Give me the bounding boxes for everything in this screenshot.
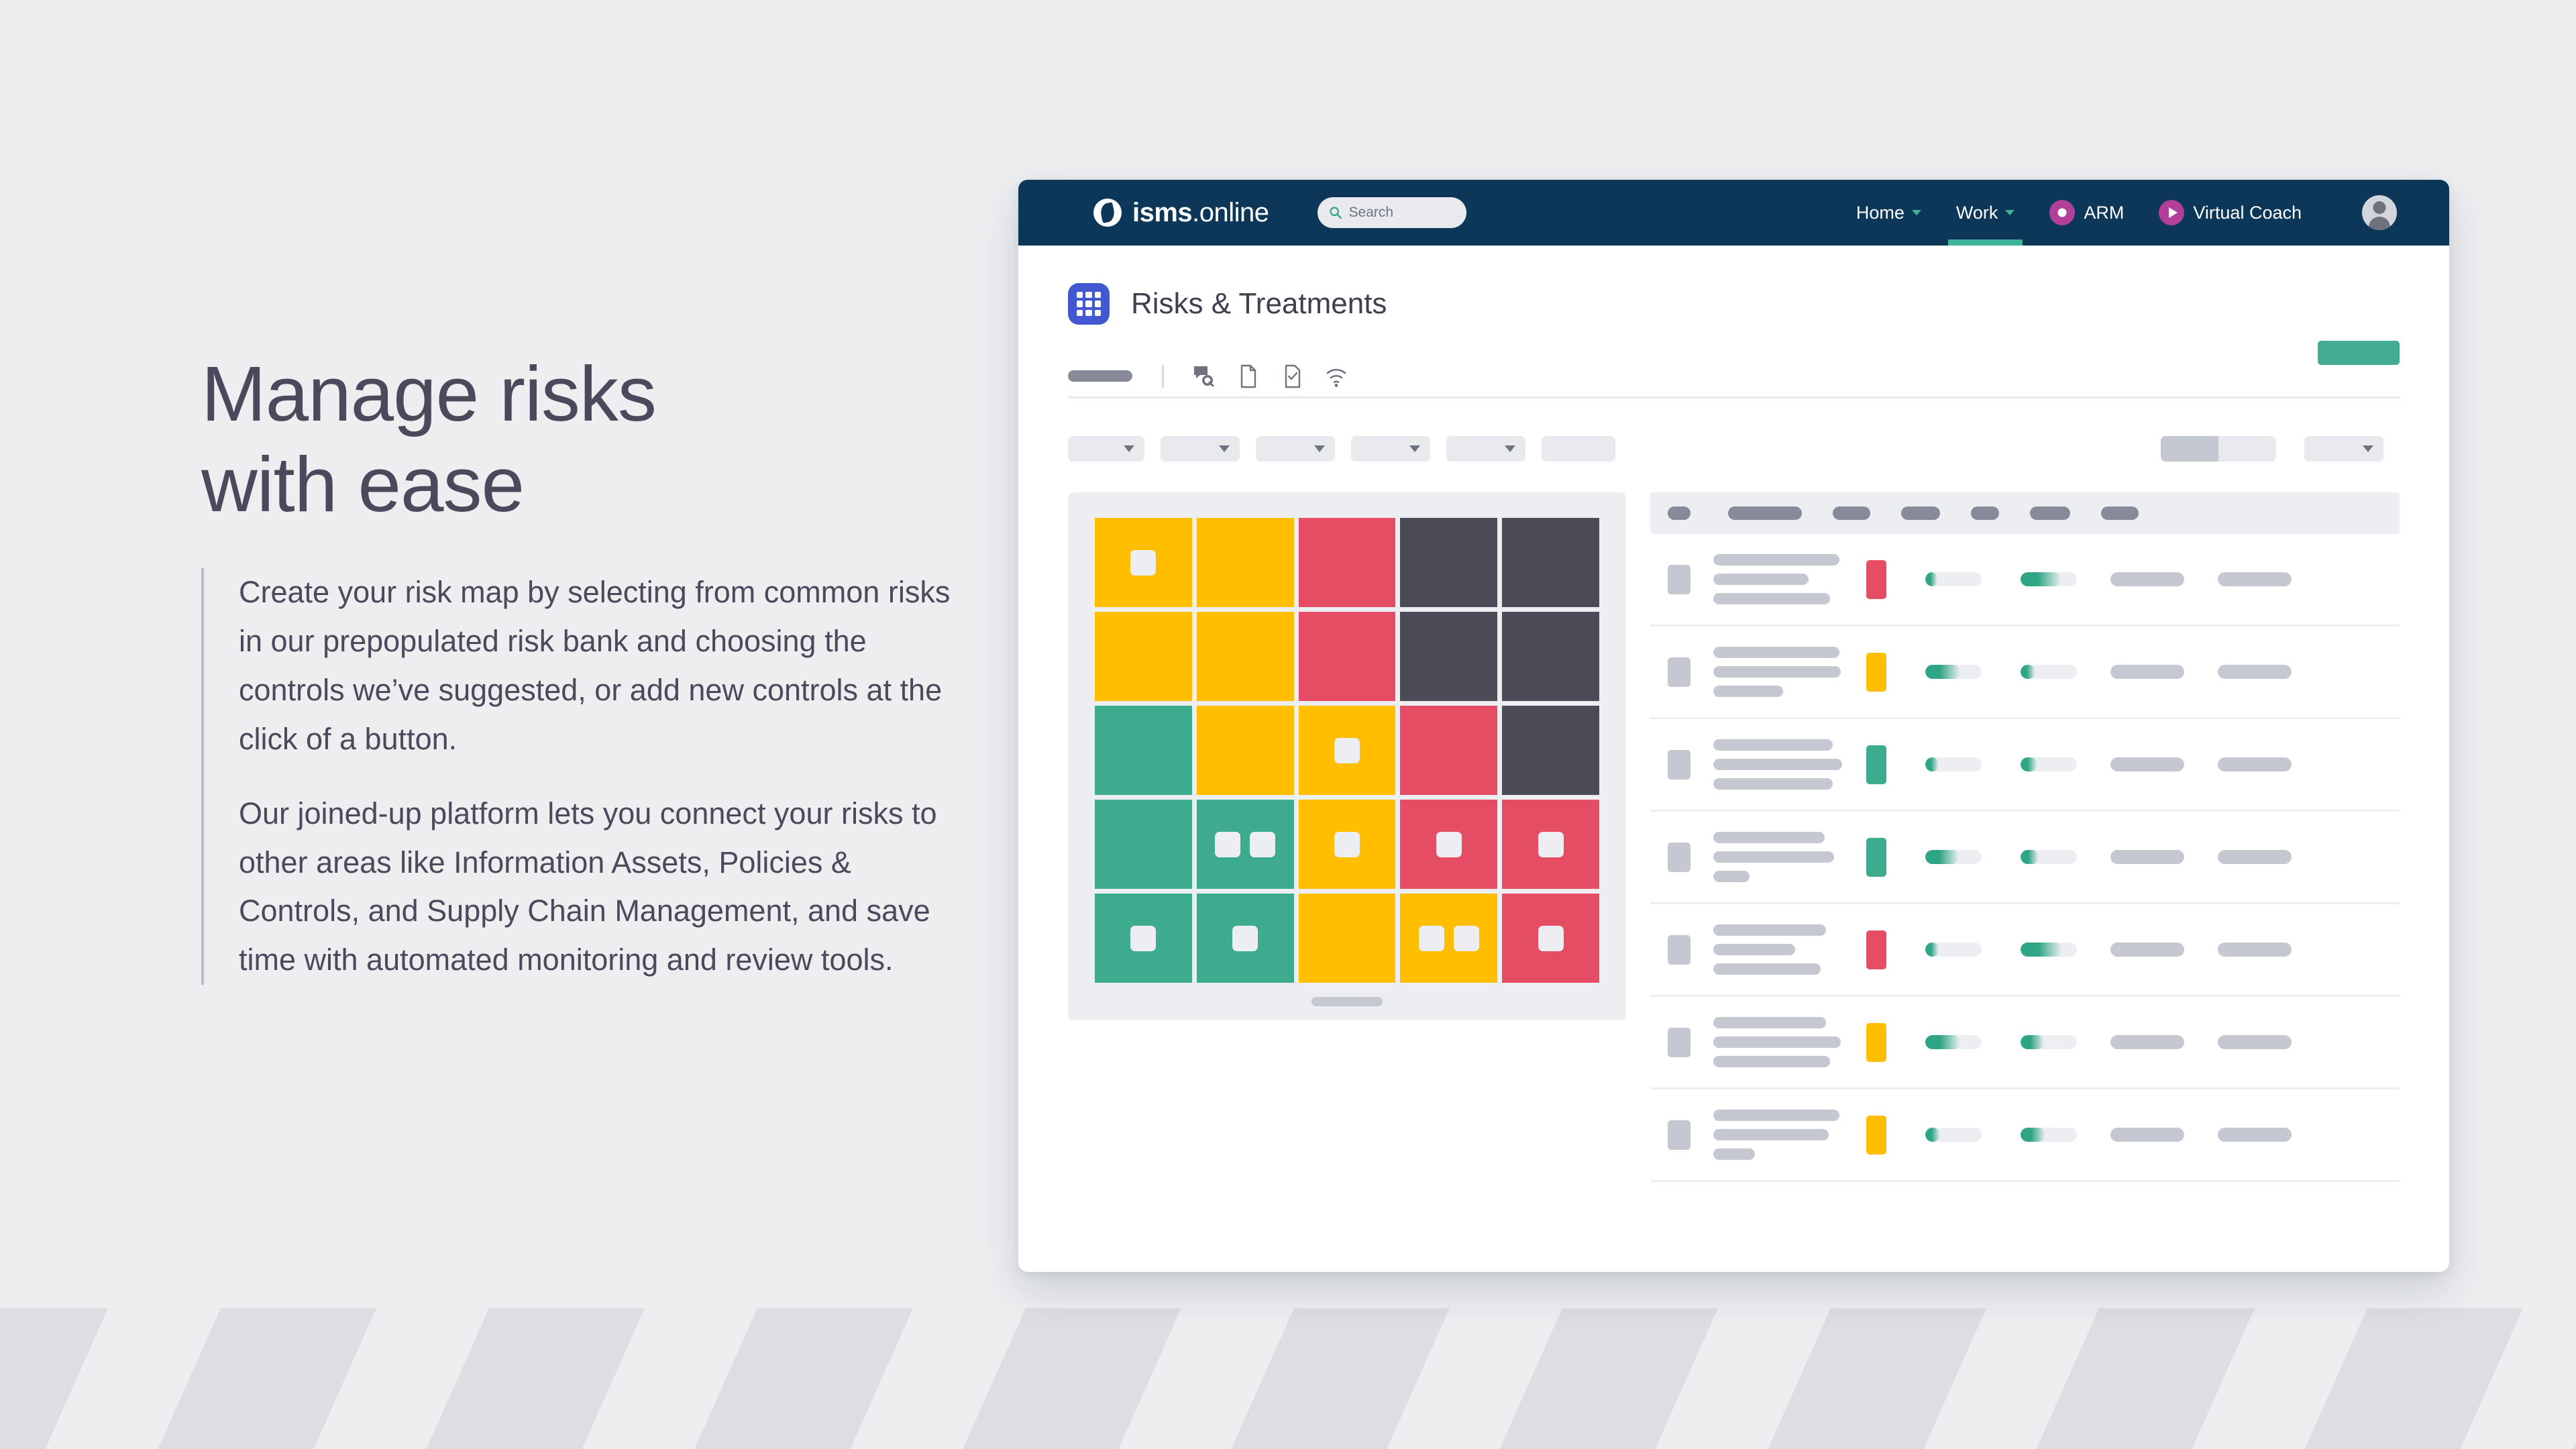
slide-root: Manage risks with ease Create your risk …: [0, 0, 2576, 1449]
risk-marker[interactable]: [1454, 926, 1479, 951]
nav-item-label: Work: [1956, 203, 1998, 223]
search-icon: [1328, 205, 1343, 220]
row-checkbox[interactable]: [1668, 935, 1690, 965]
risk-matrix-cell[interactable]: [1400, 894, 1497, 983]
status-badge: [1866, 930, 1886, 969]
decorative-stripe: [411, 1308, 657, 1449]
risk-matrix-cell[interactable]: [1095, 518, 1192, 607]
table-column-header[interactable]: [1668, 506, 1690, 520]
row-checkbox[interactable]: [1668, 750, 1690, 780]
progress-bar: [2021, 665, 2077, 679]
risk-matrix-cell[interactable]: [1095, 706, 1192, 795]
filter-dropdown-2[interactable]: [1161, 436, 1240, 462]
risk-matrix-cell[interactable]: [1400, 706, 1497, 795]
risk-matrix-cell[interactable]: [1400, 800, 1497, 889]
app-window: isms.online Search HomeWorkARMVirtual Co…: [1018, 180, 2449, 1272]
decorative-stripe: [143, 1308, 388, 1449]
row-text-placeholder: [1713, 739, 1845, 790]
filter-bar: [1068, 436, 2400, 462]
comments-icon[interactable]: [1192, 364, 1215, 388]
risk-matrix-cell[interactable]: [1400, 518, 1497, 607]
task-checklist-icon[interactable]: [1281, 364, 1303, 388]
risk-marker[interactable]: [1130, 926, 1156, 951]
paragraph-1: Create your risk map by selecting from c…: [239, 568, 979, 764]
page-header: Risks & Treatments: [1068, 283, 2400, 325]
progress-bar: [1925, 1035, 1982, 1049]
row-value-placeholder: [2110, 1035, 2184, 1049]
filter-dropdown-6[interactable]: [1542, 436, 1615, 462]
decorative-stripe: [2558, 1308, 2576, 1449]
risk-matrix: [1095, 518, 1599, 983]
risk-matrix-cell[interactable]: [1299, 800, 1396, 889]
progress-bar: [2021, 1035, 2077, 1049]
risk-matrix-cell[interactable]: [1197, 706, 1294, 795]
sort-dropdown[interactable]: [2304, 436, 2383, 462]
risk-marker[interactable]: [1538, 832, 1564, 857]
status-badge: [1866, 1023, 1886, 1062]
progress-bar: [1925, 1128, 1982, 1142]
status-badge: [1866, 1116, 1886, 1155]
filter-dropdown-4[interactable]: [1351, 436, 1430, 462]
row-value-placeholder: [2110, 757, 2184, 771]
signal-wifi-icon[interactable]: [1325, 364, 1348, 388]
heading-line-2: with ease: [201, 439, 979, 530]
risk-matrix-cell[interactable]: [1095, 800, 1192, 889]
logo-text-bold: isms: [1132, 198, 1192, 227]
table-column-header[interactable]: [2101, 506, 2139, 520]
marketing-copy: Manage risks with ease Create your risk …: [201, 349, 979, 985]
table-row[interactable]: [1650, 719, 2400, 812]
page-toolbar: [1068, 356, 2400, 398]
risk-matrix-cell[interactable]: [1197, 894, 1294, 983]
table-column-header[interactable]: [2030, 506, 2070, 520]
play-circle-icon: [2159, 200, 2184, 225]
risk-matrix-cell[interactable]: [1197, 518, 1294, 607]
row-checkbox[interactable]: [1668, 1120, 1690, 1150]
progress-bar: [1925, 757, 1982, 771]
status-badge: [1866, 745, 1886, 784]
risk-matrix-cell[interactable]: [1299, 706, 1396, 795]
grid-app-icon: [1068, 283, 1110, 325]
table-column-header[interactable]: [1971, 506, 1999, 520]
nav-item-label: ARM: [2084, 203, 2124, 223]
decorative-stripe-band: [0, 1308, 2576, 1449]
decorative-stripe: [1216, 1308, 1462, 1449]
row-value-placeholder: [2110, 665, 2184, 679]
app-topbar: isms.online Search HomeWorkARMVirtual Co…: [1018, 180, 2449, 246]
row-value-placeholder: [2110, 1128, 2184, 1142]
search-input[interactable]: Search: [1318, 197, 1466, 228]
user-avatar-icon[interactable]: [2362, 195, 2397, 230]
progress-bar: [1925, 572, 1982, 586]
main-area: [1068, 492, 2400, 1182]
row-text-placeholder: [1713, 554, 1845, 604]
risk-matrix-cell[interactable]: [1400, 612, 1497, 701]
toolbar-divider: [1162, 365, 1164, 388]
table-column-header[interactable]: [1728, 506, 1802, 520]
risk-matrix-cell[interactable]: [1299, 612, 1396, 701]
row-value-placeholder: [2218, 943, 2292, 957]
main-nav: HomeWorkARMVirtual Coach: [1839, 180, 2319, 246]
table-column-header[interactable]: [1901, 506, 1940, 520]
decorative-stripe: [2290, 1308, 2535, 1449]
status-badge: [1866, 560, 1886, 599]
nav-item-work[interactable]: Work: [1939, 180, 2033, 246]
risk-matrix-cell[interactable]: [1095, 894, 1192, 983]
row-value-placeholder: [2218, 1035, 2292, 1049]
table-row[interactable]: [1650, 627, 2400, 719]
risk-matrix-cell[interactable]: [1502, 894, 1599, 983]
table-body: [1650, 534, 2400, 1182]
risk-matrix-cell[interactable]: [1197, 800, 1294, 889]
row-value-placeholder: [2218, 850, 2292, 864]
document-icon[interactable]: [1236, 364, 1259, 388]
row-text-placeholder: [1713, 832, 1845, 882]
decorative-stripe: [2021, 1308, 2267, 1449]
table-row[interactable]: [1650, 534, 2400, 627]
risk-matrix-cell[interactable]: [1095, 612, 1192, 701]
risk-matrix-cell[interactable]: [1197, 612, 1294, 701]
filter-dropdown-1[interactable]: [1068, 436, 1144, 462]
heading-line-1: Manage risks: [201, 350, 656, 437]
risk-marker[interactable]: [1130, 550, 1156, 576]
risk-table: [1650, 492, 2400, 1182]
row-value-placeholder: [2110, 572, 2184, 586]
logo-text-light: .online: [1192, 198, 1269, 227]
matrix-scrollbar[interactable]: [1095, 983, 1599, 1020]
filter-right-group: [2161, 436, 2400, 462]
isms-logo-icon: [1093, 199, 1122, 227]
risk-marker[interactable]: [1215, 832, 1240, 857]
status-badge: [1866, 653, 1886, 692]
filter-dropdown-3[interactable]: [1256, 436, 1335, 462]
progress-bar: [2021, 757, 2077, 771]
progress-bar: [2021, 572, 2077, 586]
risk-matrix-cell[interactable]: [1502, 706, 1599, 795]
progress-bar: [2021, 943, 2077, 957]
decorative-stripe: [1485, 1308, 1730, 1449]
risk-matrix-cell[interactable]: [1502, 518, 1599, 607]
row-value-placeholder: [2218, 665, 2292, 679]
page-title: Manage risks with ease: [201, 349, 979, 529]
table-column-header[interactable]: [1833, 506, 1870, 520]
row-text-placeholder: [1713, 647, 1845, 697]
row-value-placeholder: [2218, 572, 2292, 586]
decorative-stripe: [0, 1308, 120, 1449]
table-row[interactable]: [1650, 904, 2400, 997]
risk-matrix-cell[interactable]: [1299, 894, 1396, 983]
table-row[interactable]: [1650, 1089, 2400, 1182]
risk-matrix-cell[interactable]: [1299, 518, 1396, 607]
row-value-placeholder: [2218, 757, 2292, 771]
row-checkbox[interactable]: [1668, 565, 1690, 594]
row-value-placeholder: [2218, 1128, 2292, 1142]
nav-item-label: Virtual Coach: [2193, 203, 2302, 223]
nav-item-home[interactable]: Home: [1839, 180, 1939, 246]
page-content: Risks & Treatments: [1018, 246, 2449, 1182]
risk-marker[interactable]: [1232, 926, 1258, 951]
nav-item-label: Home: [1856, 203, 1904, 223]
status-badge: [1866, 838, 1886, 877]
decorative-stripe: [948, 1308, 1193, 1449]
award-badge-icon: [2049, 200, 2075, 225]
risk-matrix-card: [1068, 492, 1626, 1020]
search-placeholder: Search: [1349, 205, 1394, 221]
chevron-down-icon: [1912, 210, 1921, 215]
row-text-placeholder: [1713, 1110, 1845, 1160]
row-value-placeholder: [2110, 850, 2184, 864]
filter-dropdown-5[interactable]: [1446, 436, 1525, 462]
paragraph-2: Our joined-up platform lets you connect …: [239, 790, 979, 985]
decorative-stripe: [1753, 1308, 1998, 1449]
table-header-row: [1650, 492, 2400, 534]
risk-matrix-cell[interactable]: [1502, 612, 1599, 701]
decorative-stripe: [680, 1308, 925, 1449]
progress-bar: [2021, 850, 2077, 864]
progress-bar: [2021, 1128, 2077, 1142]
progress-bar: [1925, 665, 1982, 679]
row-text-placeholder: [1713, 924, 1845, 975]
risk-marker[interactable]: [1419, 926, 1444, 951]
marketing-body: Create your risk map by selecting from c…: [201, 568, 979, 985]
risk-matrix-cell[interactable]: [1502, 800, 1599, 889]
progress-bar: [1925, 850, 1982, 864]
nav-item-arm[interactable]: ARM: [2032, 180, 2141, 246]
page-heading: Risks & Treatments: [1131, 287, 1387, 321]
primary-action-button[interactable]: [2318, 341, 2400, 365]
risk-marker[interactable]: [1334, 738, 1360, 763]
app-logo[interactable]: isms.online: [1093, 198, 1269, 228]
row-text-placeholder: [1713, 1017, 1845, 1067]
table-row[interactable]: [1650, 812, 2400, 904]
view-toggle[interactable]: [2161, 436, 2276, 462]
row-checkbox[interactable]: [1668, 843, 1690, 872]
chevron-down-icon: [2005, 210, 2015, 215]
risk-marker[interactable]: [1436, 832, 1462, 857]
risk-marker[interactable]: [1334, 832, 1360, 857]
row-checkbox[interactable]: [1668, 1028, 1690, 1057]
toolbar-label-placeholder: [1068, 370, 1132, 382]
row-value-placeholder: [2110, 943, 2184, 957]
nav-item-virtual-coach[interactable]: Virtual Coach: [2141, 180, 2319, 246]
row-checkbox[interactable]: [1668, 657, 1690, 687]
risk-marker[interactable]: [1538, 926, 1564, 951]
table-row[interactable]: [1650, 997, 2400, 1089]
risk-marker[interactable]: [1250, 832, 1275, 857]
progress-bar: [1925, 943, 1982, 957]
